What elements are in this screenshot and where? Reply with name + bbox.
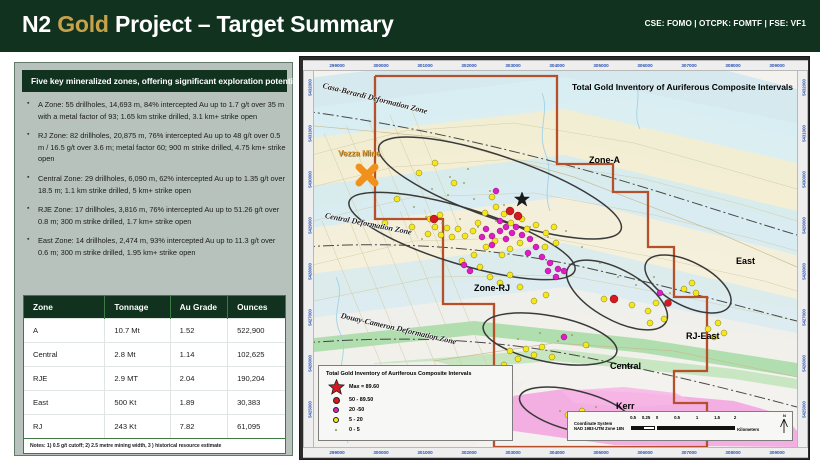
x-tick: 309000 bbox=[769, 63, 784, 68]
scale-bar: 0.5 0.25 0 0.5 1 1.5 2 Kilometers bbox=[629, 415, 743, 437]
table-row: East 500 Kt 1.89 30,383 bbox=[24, 391, 285, 415]
scale-tick: 0.5 bbox=[674, 415, 680, 420]
cell-ounces: 522,900 bbox=[228, 319, 285, 343]
left-info-panel: Five key mineralized zones, offering sig… bbox=[14, 62, 293, 456]
map-canvas[interactable]: Total Gold Inventory of Auriferous Compo… bbox=[314, 71, 797, 447]
y-tick: 5428000 bbox=[802, 252, 807, 292]
slide-header: N2 Gold Project – Target Summary CSE: FO… bbox=[0, 0, 820, 52]
list-item: East Zone: 14 drillholes, 2,474 m, 93% i… bbox=[25, 235, 287, 258]
map-title: Total Gold Inventory of Auriferous Compo… bbox=[572, 82, 793, 92]
cell-au-grade: 1.52 bbox=[170, 319, 227, 343]
list-item: Central Zone: 29 drillholes, 6,090 m, 62… bbox=[25, 173, 287, 196]
resource-table: Zone Tonnage Au Grade Ounces A 10.7 Mt 1… bbox=[23, 295, 286, 454]
x-tick: 309000 bbox=[769, 450, 784, 455]
y-tick: 5431000 bbox=[308, 114, 313, 154]
map-x-axis-top: 299000 300000 301000 302000 303000 30400… bbox=[303, 60, 808, 71]
x-tick: 303000 bbox=[505, 63, 520, 68]
y-tick: 5432000 bbox=[308, 68, 313, 108]
title-segment-2: Project – Target Summary bbox=[109, 11, 394, 37]
cell-au-grade: 2.04 bbox=[170, 367, 227, 391]
east-zone-label: East bbox=[736, 256, 755, 266]
x-tick: 308000 bbox=[725, 63, 740, 68]
x-tick: 300000 bbox=[373, 63, 388, 68]
cell-zone: RJ bbox=[24, 415, 105, 439]
scale-tick: 0.5 bbox=[630, 415, 636, 420]
cell-zone: East bbox=[24, 391, 105, 415]
page-title: N2 Gold Project – Target Summary bbox=[22, 11, 394, 38]
legend-item-5-20: 5 - 20 bbox=[326, 415, 506, 425]
legend-label: 5 - 20 bbox=[349, 417, 363, 423]
column-header-zone: Zone bbox=[24, 296, 105, 319]
y-tick: 5429000 bbox=[308, 206, 313, 246]
y-tick: 5432000 bbox=[802, 68, 807, 108]
column-header-ounces: Ounces bbox=[228, 296, 285, 319]
y-tick: 5429000 bbox=[802, 206, 807, 246]
cell-au-grade: 1.14 bbox=[170, 343, 227, 367]
cell-zone: Central bbox=[24, 343, 105, 367]
y-tick: 5425000 bbox=[802, 390, 807, 430]
x-tick: 301000 bbox=[417, 63, 432, 68]
x-tick: 302000 bbox=[461, 63, 476, 68]
legend-label: Max = 89.60 bbox=[349, 384, 379, 390]
scale-units-label: Kilometers bbox=[737, 427, 759, 432]
list-item: RJE Zone: 17 drillholes, 3,816 m, 76% in… bbox=[25, 204, 287, 227]
star-icon bbox=[326, 379, 346, 395]
map-scale-panel: Coordinate System NAD 1983-UTM Zone 18N … bbox=[567, 411, 793, 441]
small-dot-icon bbox=[326, 429, 346, 432]
x-tick: 304000 bbox=[549, 450, 564, 455]
list-item: A Zone: 55 drillholes, 14,693 m, 84% int… bbox=[25, 99, 287, 122]
north-arrow-icon: N bbox=[777, 413, 792, 439]
y-tick: 5427000 bbox=[802, 298, 807, 338]
cell-tonnage: 243 Kt bbox=[105, 415, 170, 439]
table-row: A 10.7 Mt 1.52 522,900 bbox=[24, 319, 285, 343]
x-tick: 304000 bbox=[549, 63, 564, 68]
column-header-tonnage: Tonnage bbox=[105, 296, 170, 319]
coordinate-system-line2: NAD 1983-UTM Zone 18N bbox=[574, 426, 627, 431]
legend-item-20-50: 20 -50 bbox=[326, 405, 506, 415]
map-inner-frame: 299000 300000 301000 302000 303000 30400… bbox=[303, 60, 808, 458]
x-tick: 308000 bbox=[725, 450, 740, 455]
cell-au-grade: 1.89 bbox=[170, 391, 227, 415]
title-segment-gold: Gold bbox=[57, 11, 109, 37]
central-zone-label: Central bbox=[610, 361, 641, 371]
scale-tick: 0 bbox=[656, 415, 658, 420]
cell-zone: RJE bbox=[24, 367, 105, 391]
y-tick: 5431000 bbox=[802, 114, 807, 154]
y-tick: 5430000 bbox=[308, 160, 313, 200]
x-tick: 302000 bbox=[461, 450, 476, 455]
x-tick: 307000 bbox=[681, 63, 696, 68]
magenta-dot-icon bbox=[326, 407, 346, 413]
x-tick: 306000 bbox=[637, 450, 652, 455]
y-tick: 5430000 bbox=[802, 160, 807, 200]
y-tick: 5428000 bbox=[308, 252, 313, 292]
map-legend: Total Gold Inventory of Auriferous Compo… bbox=[318, 365, 513, 441]
scale-tick: 2 bbox=[734, 415, 736, 420]
cell-ounces: 190,204 bbox=[228, 367, 285, 391]
x-tick: 299000 bbox=[329, 450, 344, 455]
table-header-row: Zone Tonnage Au Grade Ounces bbox=[24, 296, 285, 319]
x-tick: 306000 bbox=[637, 63, 652, 68]
table-row: RJE 2.9 MT 2.04 190,204 bbox=[24, 367, 285, 391]
coordinate-system-info: Coordinate System NAD 1983-UTM Zone 18N bbox=[574, 421, 627, 432]
x-tick: 303000 bbox=[505, 450, 520, 455]
x-tick: 307000 bbox=[681, 450, 696, 455]
cell-zone: A bbox=[24, 319, 105, 343]
legend-item-50-89: 50 - 89.50 bbox=[326, 395, 506, 405]
zone-highlights-list: A Zone: 55 drillholes, 14,693 m, 84% int… bbox=[25, 99, 287, 267]
x-tick: 300000 bbox=[373, 450, 388, 455]
x-tick: 305000 bbox=[593, 63, 608, 68]
legend-label: 0 - 5 bbox=[349, 427, 360, 433]
cell-tonnage: 2.9 MT bbox=[105, 367, 170, 391]
y-tick: 5426000 bbox=[802, 344, 807, 384]
scale-tick: 1 bbox=[696, 415, 698, 420]
zone-a-label: Zone-A bbox=[589, 155, 620, 165]
cell-ounces: 61,095 bbox=[228, 415, 285, 439]
list-item: RJ Zone: 82 drillholes, 20,875 m, 76% in… bbox=[25, 130, 287, 165]
panel-heading: Five key mineralized zones, offering sig… bbox=[22, 70, 287, 92]
table-row: RJ 243 Kt 7.82 61,095 bbox=[24, 415, 285, 439]
cell-ounces: 102,625 bbox=[228, 343, 285, 367]
table-footnotes: Notes: 1) 0.5 g/t cutoff; 2) 2.5 metre m… bbox=[24, 438, 285, 453]
red-dot-icon bbox=[326, 397, 346, 404]
map-x-axis-bottom: 299000 300000 301000 302000 303000 30400… bbox=[303, 447, 808, 458]
legend-label: 50 - 89.50 bbox=[349, 397, 373, 403]
cell-tonnage: 2.8 Mt bbox=[105, 343, 170, 367]
y-tick: 5425000 bbox=[308, 390, 313, 430]
table-row: Central 2.8 Mt 1.14 102,625 bbox=[24, 343, 285, 367]
y-tick: 5427000 bbox=[308, 298, 313, 338]
yellow-dot-icon bbox=[326, 417, 346, 423]
scale-tick: 1.5 bbox=[714, 415, 720, 420]
map-panel: 299000 300000 301000 302000 303000 30400… bbox=[299, 56, 810, 460]
x-tick: 299000 bbox=[329, 63, 344, 68]
cell-tonnage: 10.7 Mt bbox=[105, 319, 170, 343]
cell-tonnage: 500 Kt bbox=[105, 391, 170, 415]
legend-title: Total Gold Inventory of Auriferous Compo… bbox=[326, 371, 506, 377]
x-tick: 301000 bbox=[417, 450, 432, 455]
legend-item-0-5: 0 - 5 bbox=[326, 425, 506, 435]
map-y-axis-left: 5432000 5431000 5430000 5429000 5428000 … bbox=[303, 71, 314, 447]
cell-au-grade: 7.82 bbox=[170, 415, 227, 439]
legend-label: 20 -50 bbox=[349, 407, 364, 413]
scale-tick: 0.25 bbox=[642, 415, 650, 420]
title-segment-1: N2 bbox=[22, 11, 57, 37]
slide-root: N2 Gold Project – Target Summary CSE: FO… bbox=[0, 0, 820, 466]
map-y-axis-right: 5432000 5431000 5430000 5429000 5428000 … bbox=[797, 71, 808, 447]
column-header-au-grade: Au Grade bbox=[170, 296, 227, 319]
vezza-mine-label: Vezza Mine bbox=[338, 149, 380, 158]
y-tick: 5426000 bbox=[308, 344, 313, 384]
x-tick: 305000 bbox=[593, 450, 608, 455]
stock-ticker-listing: CSE: FOMO | OTCPK: FOMTF | FSE: VF1 bbox=[645, 19, 806, 28]
legend-item-max: Max = 89.60 bbox=[326, 379, 506, 395]
cell-ounces: 30,383 bbox=[228, 391, 285, 415]
rj-east-zone-label: RJ-East bbox=[686, 331, 720, 341]
kerr-zone-label: Kerr bbox=[616, 401, 635, 411]
zone-rj-label: Zone-RJ bbox=[474, 283, 510, 293]
